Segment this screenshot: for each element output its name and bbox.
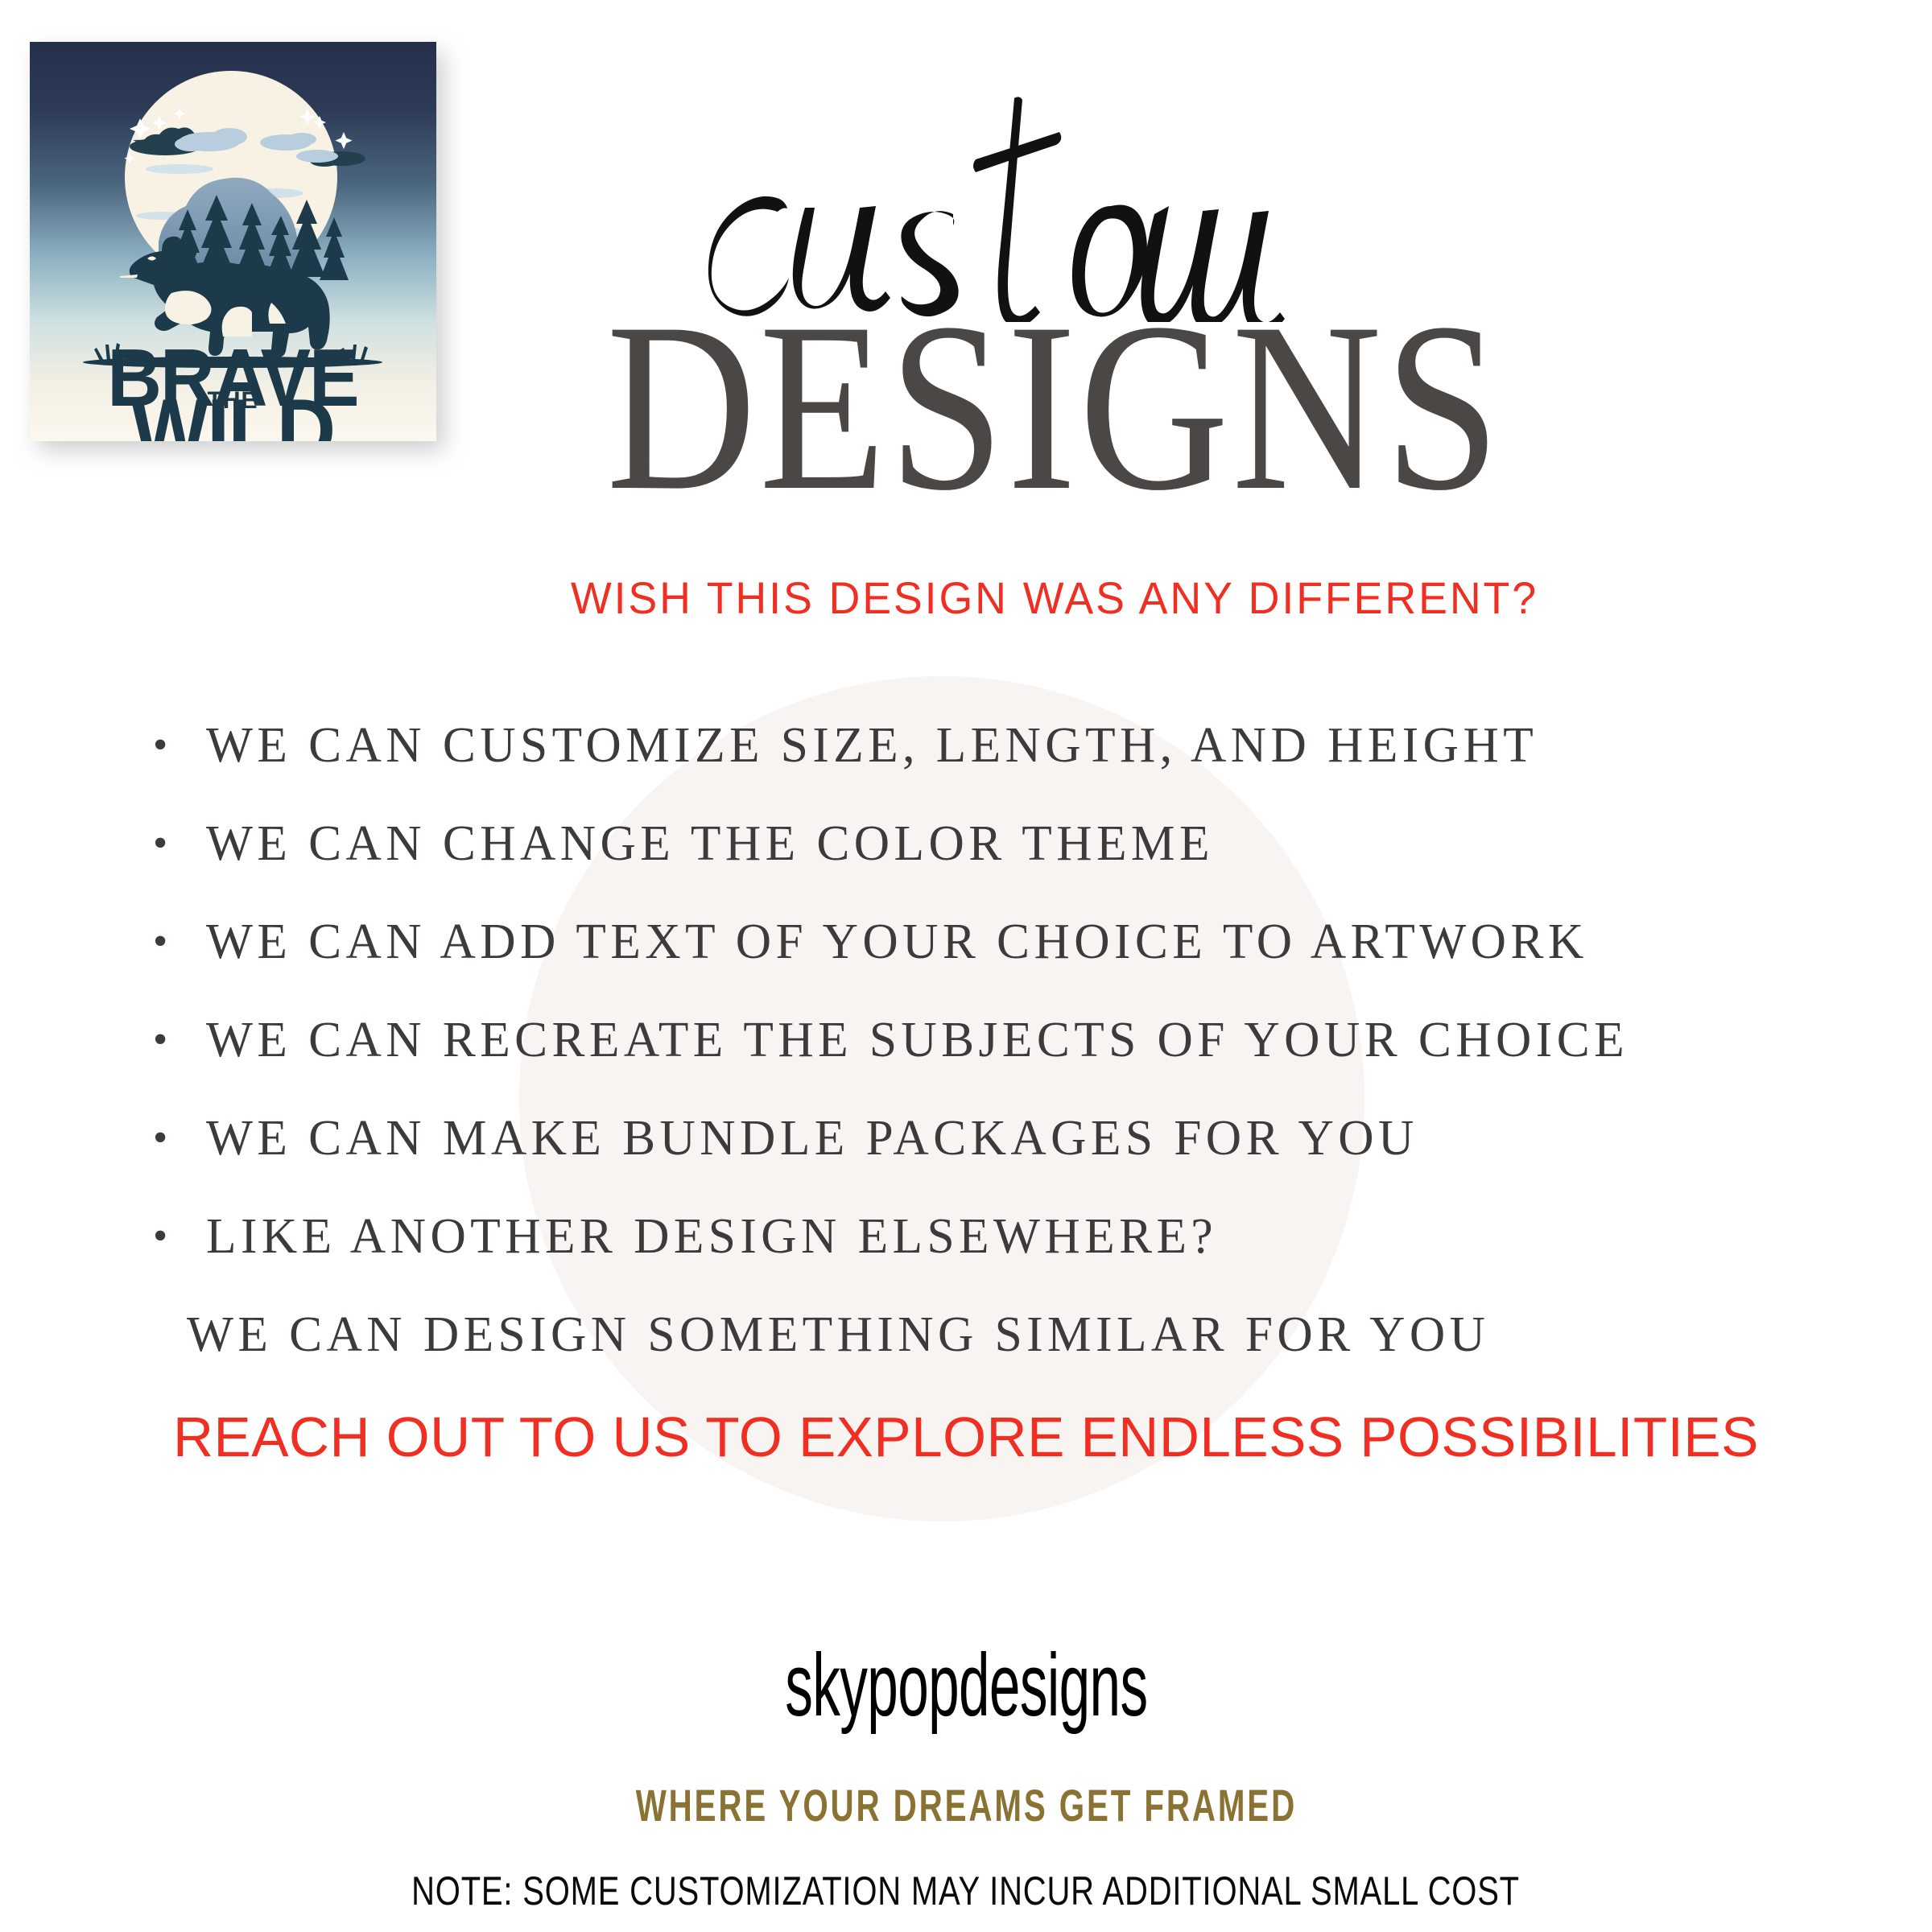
svg-text:WILD: WILD xyxy=(131,382,334,441)
brand-name: skypopdesigns xyxy=(0,1634,1932,1736)
list-item-label: WE CAN CHANGE THE COLOR THEME xyxy=(206,815,1214,873)
bullet-marker: • xyxy=(153,716,206,774)
brand-tagline-label: WHERE YOUR DREAMS GET FRAMED xyxy=(635,1779,1296,1831)
subtitle-question: WISH THIS DESIGN WAS ANY DIFFERENT? xyxy=(475,572,1634,624)
list-item: • WE CAN MAKE BUNDLE PACKAGES FOR YOU xyxy=(153,1109,1860,1207)
brand-tagline: WHERE YOUR DREAMS GET FRAMED xyxy=(0,1779,1932,1831)
list-item: • WE CAN RECREATE THE SUBJECTS OF YOUR C… xyxy=(153,1011,1860,1109)
footnote-label: NOTE: SOME CUSTOMIZATION MAY INCUR ADDIT… xyxy=(412,1868,1521,1914)
features-list: • WE CAN CUSTOMIZE SIZE, LENGTH, AND HEI… xyxy=(153,716,1860,1404)
list-item: • LIKE ANOTHER DESIGN ELSEWHERE? xyxy=(153,1207,1860,1306)
list-item-label: WE CAN ADD TEXT OF YOUR CHOICE TO ARTWOR… xyxy=(206,913,1588,971)
poster-canvas: BRAVE THE WILD xyxy=(0,0,1932,1932)
list-item-label: WE CAN DESIGN SOMETHING SIMILAR FOR YOU xyxy=(187,1306,1489,1364)
list-item: • WE CAN CUSTOMIZE SIZE, LENGTH, AND HEI… xyxy=(153,716,1860,815)
brand-name-label: skypopdesigns xyxy=(785,1634,1147,1736)
logo-wordmark: BRAVE THE WILD xyxy=(107,332,357,441)
list-item-label: WE CAN CUSTOMIZE SIZE, LENGTH, AND HEIGH… xyxy=(206,716,1538,774)
bullet-marker: • xyxy=(153,913,206,971)
list-item: • WE CAN ADD TEXT OF YOUR CHOICE TO ARTW… xyxy=(153,913,1860,1011)
product-thumbnail-card[interactable]: BRAVE THE WILD xyxy=(30,42,436,441)
list-item-label: LIKE ANOTHER DESIGN ELSEWHERE? xyxy=(206,1207,1217,1265)
bullet-marker: • xyxy=(153,1109,206,1167)
bullet-marker: • xyxy=(153,1207,206,1265)
headline-block: DESIGNS WISH THIS DESIGN WAS ANY DIFFERE… xyxy=(451,56,1658,539)
call-to-action: REACH OUT TO US TO EXPLORE ENDLESS POSSI… xyxy=(0,1405,1932,1469)
list-item-label: WE CAN RECREATE THE SUBJECTS OF YOUR CHO… xyxy=(206,1011,1629,1069)
bullet-marker: • xyxy=(153,815,206,873)
list-item-label: WE CAN MAKE BUNDLE PACKAGES FOR YOU xyxy=(206,1109,1418,1167)
list-item-continuation: WE CAN DESIGN SOMETHING SIMILAR FOR YOU xyxy=(153,1306,1860,1404)
brave-the-wild-artwork: BRAVE THE WILD xyxy=(30,42,436,441)
footnote: NOTE: SOME CUSTOMIZATION MAY INCUR ADDIT… xyxy=(0,1868,1932,1914)
page-title: DESIGNS xyxy=(535,286,1574,527)
list-item: • WE CAN CHANGE THE COLOR THEME xyxy=(153,815,1860,913)
bullet-marker: • xyxy=(153,1011,206,1069)
call-to-action-label: REACH OUT TO US TO EXPLORE ENDLESS POSSI… xyxy=(173,1405,1759,1469)
